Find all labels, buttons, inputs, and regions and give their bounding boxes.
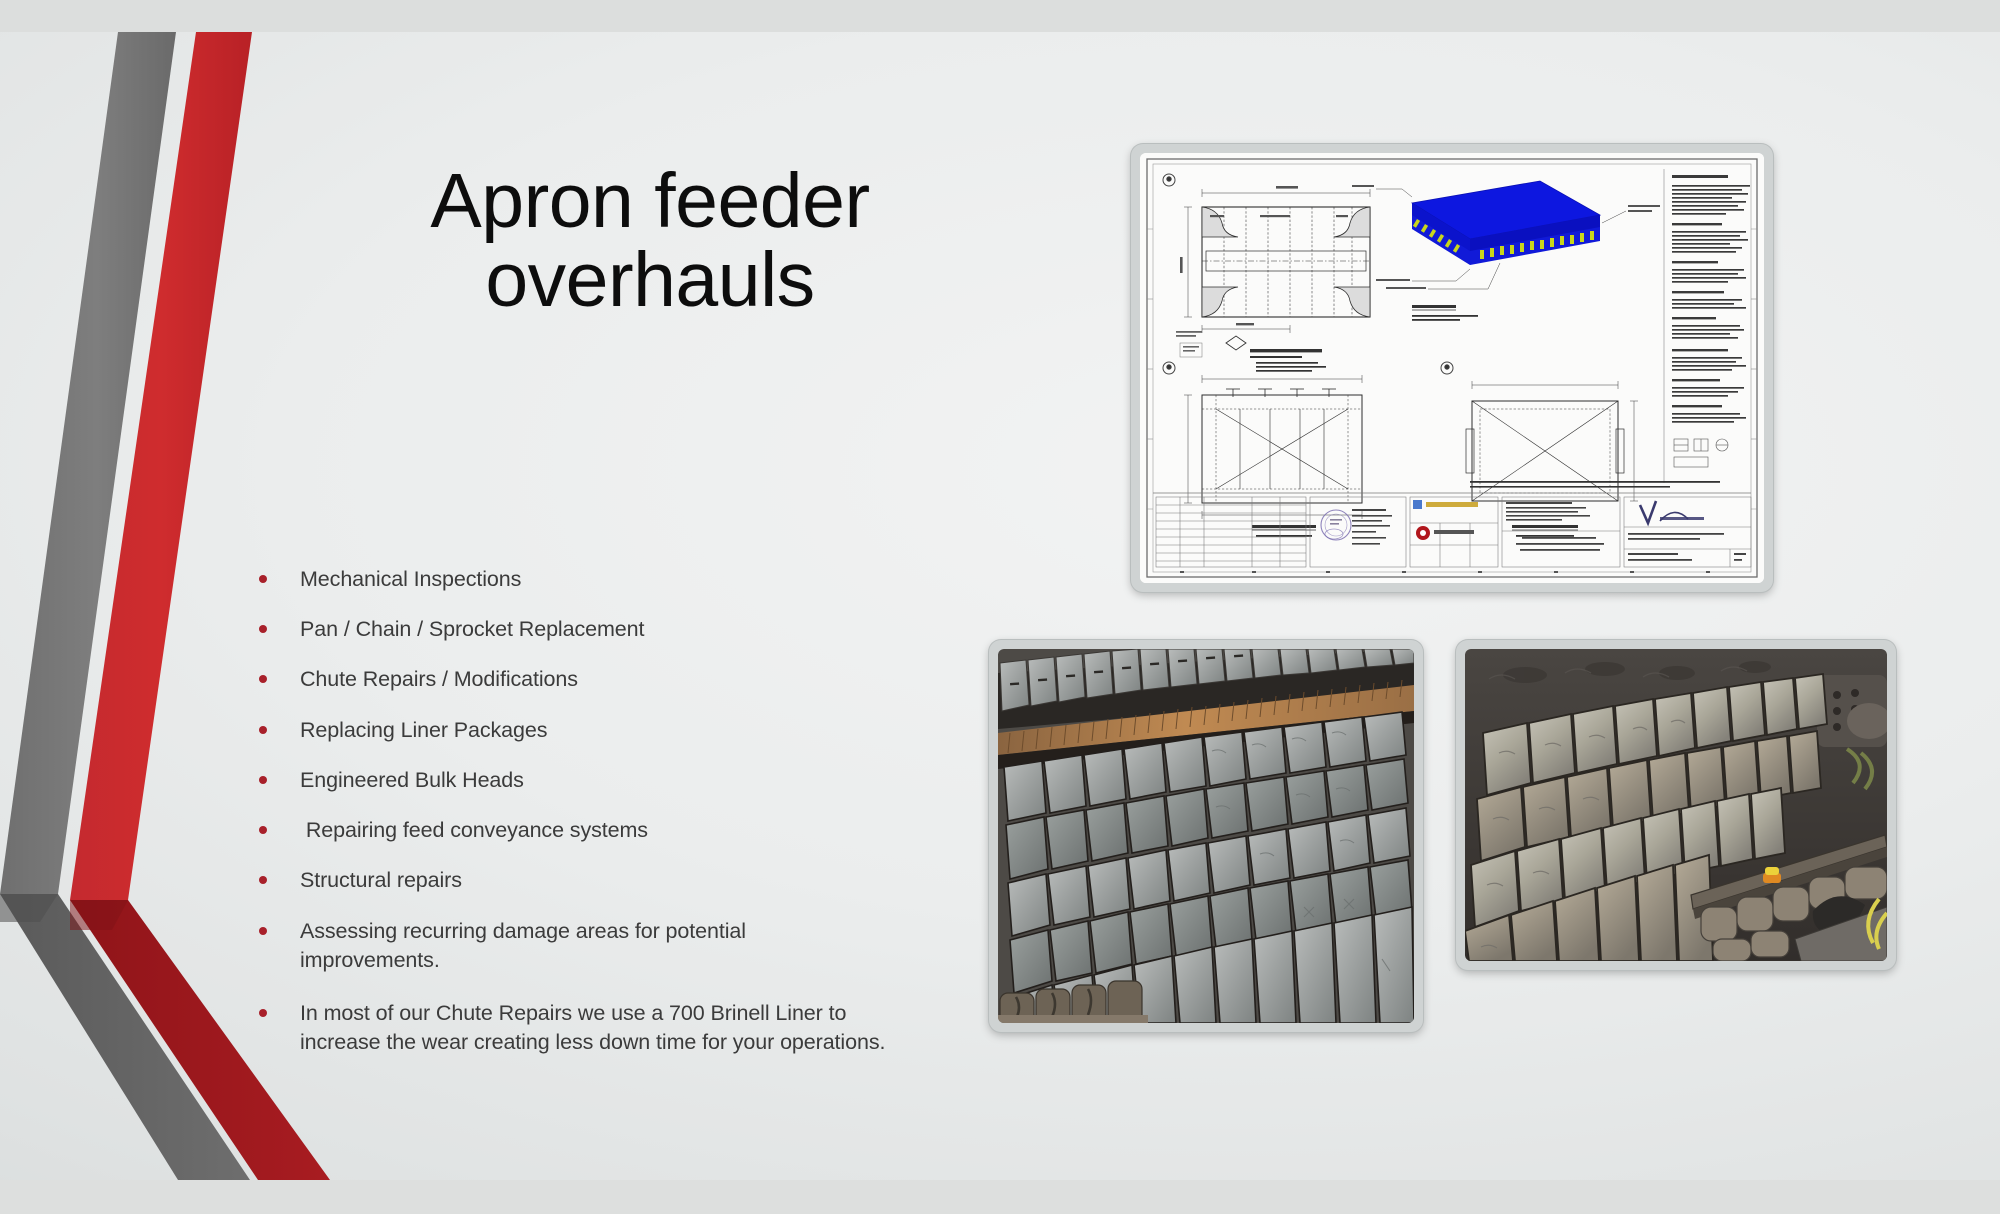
viewer-bottom-strip xyxy=(0,1180,2000,1214)
list-item: Structural repairs xyxy=(248,866,888,895)
bullet-dot-icon xyxy=(259,927,267,935)
bullet-dot-icon xyxy=(259,1009,267,1017)
liner-photo-right-image[interactable] xyxy=(1456,640,1896,970)
bullet-dot-icon xyxy=(259,876,267,884)
bullet-dot-icon xyxy=(259,575,267,583)
chevron-gray-upper xyxy=(0,32,176,894)
engineering-drawing-svg xyxy=(1140,153,1764,583)
list-item: Mechanical Inspections xyxy=(248,565,888,594)
list-item-label: Mechanical Inspections xyxy=(300,565,888,594)
bullet-list: Mechanical Inspections Pan / Chain / Spr… xyxy=(248,565,888,1058)
page-title-line-2: overhauls xyxy=(300,241,1000,320)
liner-photo-left-canvas xyxy=(998,649,1414,1023)
list-item-label: Assessing recurring damage areas for pot… xyxy=(300,917,888,975)
page-title-line-1: Apron feeder xyxy=(300,162,1000,241)
list-item: Engineered Bulk Heads xyxy=(248,766,888,795)
list-item-label: Repairing feed conveyance systems xyxy=(300,816,888,845)
chevron-red-upper xyxy=(70,32,252,900)
list-item-label: Structural repairs xyxy=(300,866,888,895)
liner-photo-right-canvas xyxy=(1465,649,1887,961)
bullet-dot-icon xyxy=(259,826,267,834)
chevron-gray-lower xyxy=(0,894,250,1180)
bullet-dot-icon xyxy=(259,776,267,784)
list-item-label: Chute Repairs / Modifications xyxy=(300,665,888,694)
liner-photo-left-svg xyxy=(998,649,1414,1023)
list-item-label: Replacing Liner Packages xyxy=(300,716,888,745)
engineering-drawing-canvas xyxy=(1140,153,1764,583)
bullet-dot-icon xyxy=(259,625,267,633)
list-item-label: Engineered Bulk Heads xyxy=(300,766,888,795)
list-item: Assessing recurring damage areas for pot… xyxy=(248,917,888,975)
list-item: Replacing Liner Packages xyxy=(248,716,888,745)
list-item-label: In most of our Chute Repairs we use a 70… xyxy=(300,999,888,1057)
liner-photo-right-svg xyxy=(1465,649,1887,961)
list-item: Pan / Chain / Sprocket Replacement xyxy=(248,615,888,644)
engineering-drawing-image[interactable] xyxy=(1131,144,1773,592)
page-title: Apron feeder overhauls xyxy=(300,162,1000,321)
chevron-red-bevel xyxy=(70,900,128,930)
bullet-dot-icon xyxy=(259,675,267,683)
list-item: Chute Repairs / Modifications xyxy=(248,665,888,694)
list-item-label: Pan / Chain / Sprocket Replacement xyxy=(300,615,888,644)
bullet-dot-icon xyxy=(259,726,267,734)
chevron-gray-bevel xyxy=(0,894,58,922)
viewer-top-strip xyxy=(0,0,2000,32)
list-item: Repairing feed conveyance systems xyxy=(248,816,888,845)
liner-photo-left-image[interactable] xyxy=(989,640,1423,1032)
list-item: In most of our Chute Repairs we use a 70… xyxy=(248,999,888,1057)
presentation-slide: Apron feeder overhauls Mechanical Inspec… xyxy=(0,32,2000,1180)
slide-viewer: Apron feeder overhauls Mechanical Inspec… xyxy=(0,0,2000,1214)
